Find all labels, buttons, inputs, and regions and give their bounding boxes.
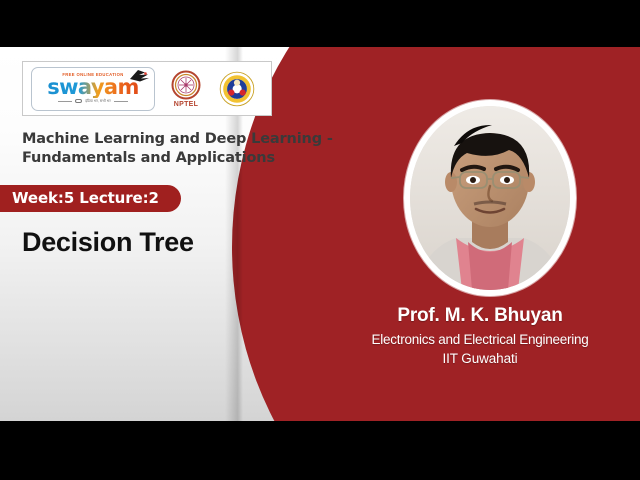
swayam-logo: FREE ONLINE EDUCATION swayam इंडिया भर, …: [31, 67, 155, 111]
swayam-rule-right: [114, 101, 128, 102]
nptel-logo: NPTEL: [165, 70, 207, 108]
presenter-institute: IIT Guwahati: [330, 351, 630, 366]
letterbox-bar-top: [0, 0, 640, 47]
course-title-line1: Machine Learning and Deep Learning -: [22, 131, 333, 147]
iit-guwahati-emblem-icon: [219, 71, 255, 107]
nptel-emblem-icon: [171, 70, 201, 100]
course-title: Machine Learning and Deep Learning - Fun…: [22, 130, 342, 169]
presenter-name: Prof. M. K. Bhuyan: [330, 305, 630, 327]
swayam-bird-icon: [128, 68, 150, 85]
swayam-subtitle-row: इंडिया भर, सभी भर: [58, 99, 128, 104]
video-slide-frame: FREE ONLINE EDUCATION swayam इंडिया भर, …: [0, 0, 640, 480]
lecture-title: Decision Tree: [22, 227, 350, 258]
slide-left-column: FREE ONLINE EDUCATION swayam इंडिया भर, …: [0, 47, 350, 421]
presenter-photo-illustration: [410, 106, 570, 290]
presenter-department: Electronics and Electrical Engineering: [330, 332, 630, 347]
slide-canvas: FREE ONLINE EDUCATION swayam इंडिया भर, …: [0, 47, 640, 421]
presenter-info: Prof. M. K. Bhuyan Electronics and Elect…: [330, 305, 630, 366]
logo-bar: FREE ONLINE EDUCATION swayam इंडिया भर, …: [22, 61, 272, 116]
course-title-line2: Fundamentals and Applications: [22, 150, 275, 166]
mouse-icon: [75, 99, 82, 103]
presenter-portrait: [410, 106, 570, 290]
letterbox-bar-bottom: [0, 421, 640, 480]
week-lecture-badge: Week:5 Lecture:2: [0, 185, 181, 212]
presenter-portrait-wrapper: [404, 100, 576, 296]
swayam-subtitle: इंडिया भर, सभी भर: [85, 99, 111, 104]
swayam-rule-left: [58, 101, 72, 102]
iit-guwahati-logo: [217, 71, 257, 107]
nptel-label: NPTEL: [174, 101, 198, 108]
portrait-ring: [404, 100, 576, 296]
swayam-wordmark: swayam: [47, 78, 139, 98]
